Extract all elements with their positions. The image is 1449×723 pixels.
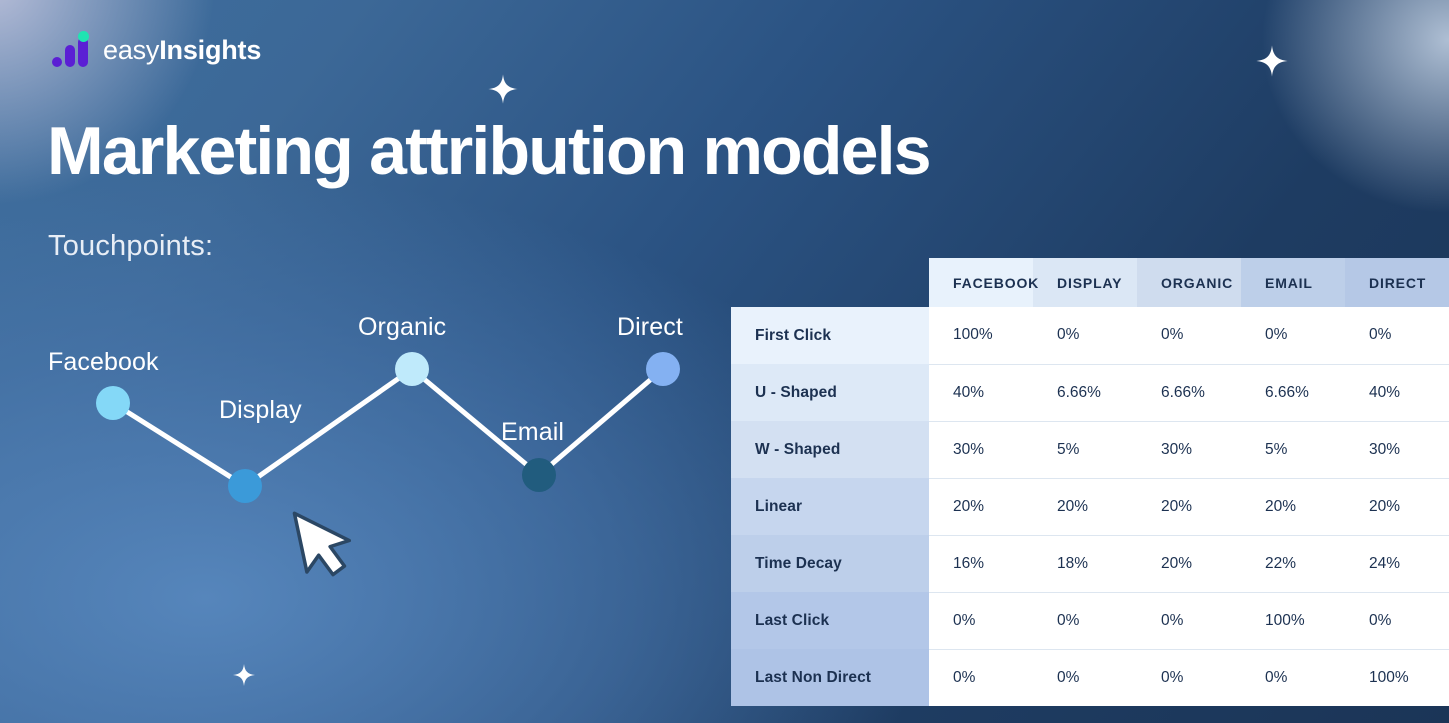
journey-label-organic: Organic <box>358 313 446 342</box>
journey-node-display[interactable] <box>228 469 262 503</box>
cell-value: 24% <box>1345 535 1449 592</box>
cell-value: 0% <box>1345 307 1449 364</box>
sparkle-icon <box>1255 44 1289 78</box>
cell-value: 20% <box>1033 478 1137 535</box>
journey-label-facebook: Facebook <box>48 348 159 377</box>
row-label-w-shaped[interactable]: W - Shaped <box>731 421 929 478</box>
cell-value: 0% <box>1345 592 1449 649</box>
journey-node-direct[interactable] <box>646 352 680 386</box>
table-row: Last Click0%0%0%100%0% <box>731 592 1449 649</box>
poster-canvas: easyInsights Marketing attribution model… <box>0 0 1449 723</box>
cell-value: 0% <box>929 649 1033 706</box>
cell-value: 0% <box>1241 307 1345 364</box>
cell-value: 6.66% <box>1137 364 1241 421</box>
table-row: Time Decay16%18%20%22%24% <box>731 535 1449 592</box>
table-row: Linear20%20%20%20%20% <box>731 478 1449 535</box>
row-label-last-click[interactable]: Last Click <box>731 592 929 649</box>
cell-value: 30% <box>929 421 1033 478</box>
journey-node-email[interactable] <box>522 458 556 492</box>
cell-value: 0% <box>1137 307 1241 364</box>
logo-word-insights: Insights <box>159 35 261 65</box>
cell-value: 20% <box>1241 478 1345 535</box>
table-row: Last Non Direct0%0%0%0%100% <box>731 649 1449 706</box>
cell-value: 20% <box>929 478 1033 535</box>
cell-value: 5% <box>1241 421 1345 478</box>
cell-value: 0% <box>1137 592 1241 649</box>
journey-label-direct: Direct <box>617 313 683 342</box>
easyinsights-logo[interactable]: easyInsights <box>52 30 261 70</box>
cell-value: 40% <box>1345 364 1449 421</box>
journey-nodes <box>96 352 680 503</box>
logo-wordmark: easyInsights <box>103 35 261 66</box>
row-label-time-decay[interactable]: Time Decay <box>731 535 929 592</box>
cell-value: 30% <box>1345 421 1449 478</box>
column-header-facebook[interactable]: FACEBOOK <box>929 258 1033 307</box>
cell-value: 16% <box>929 535 1033 592</box>
cell-value: 6.66% <box>1033 364 1137 421</box>
bar-chart-logo-icon <box>52 33 90 67</box>
sparkle-icon <box>232 663 256 687</box>
cell-value: 0% <box>1033 649 1137 706</box>
row-label-last-non-direct[interactable]: Last Non Direct <box>731 649 929 706</box>
cell-value: 100% <box>1241 592 1345 649</box>
column-header-email[interactable]: EMAIL <box>1241 258 1345 307</box>
cell-value: 20% <box>1137 535 1241 592</box>
cell-value: 0% <box>1241 649 1345 706</box>
journey-node-facebook[interactable] <box>96 386 130 420</box>
cell-value: 0% <box>929 592 1033 649</box>
journey-node-organic[interactable] <box>395 352 429 386</box>
cell-value: 0% <box>1033 592 1137 649</box>
row-label-first-click[interactable]: First Click <box>731 307 929 364</box>
mouse-pointer-icon <box>287 500 359 584</box>
table-row: First Click100%0%0%0%0% <box>731 307 1449 364</box>
table-body: First Click100%0%0%0%0%U - Shaped40%6.66… <box>731 307 1449 706</box>
row-label-linear[interactable]: Linear <box>731 478 929 535</box>
table-corner-cell <box>731 258 929 307</box>
attribution-models-table: FACEBOOK DISPLAY ORGANIC EMAIL DIRECT Fi… <box>731 258 1449 706</box>
journey-label-email: Email <box>501 418 564 447</box>
cell-value: 6.66% <box>1241 364 1345 421</box>
cell-value: 100% <box>1345 649 1449 706</box>
table-header-row: FACEBOOK DISPLAY ORGANIC EMAIL DIRECT <box>731 258 1449 307</box>
cell-value: 22% <box>1241 535 1345 592</box>
row-label-u-shaped[interactable]: U - Shaped <box>731 364 929 421</box>
cell-value: 40% <box>929 364 1033 421</box>
cell-value: 100% <box>929 307 1033 364</box>
table-row: U - Shaped40%6.66%6.66%6.66%40% <box>731 364 1449 421</box>
column-header-display[interactable]: DISPLAY <box>1033 258 1137 307</box>
column-header-organic[interactable]: ORGANIC <box>1137 258 1241 307</box>
cell-value: 20% <box>1137 478 1241 535</box>
cell-value: 20% <box>1345 478 1449 535</box>
page-title: Marketing attribution models <box>47 112 930 190</box>
journey-label-display: Display <box>219 396 302 425</box>
cell-value: 0% <box>1137 649 1241 706</box>
column-header-direct[interactable]: DIRECT <box>1345 258 1449 307</box>
cell-value: 30% <box>1137 421 1241 478</box>
cell-value: 18% <box>1033 535 1137 592</box>
cell-value: 5% <box>1033 421 1137 478</box>
logo-word-easy: easy <box>103 35 159 65</box>
journey-path <box>113 369 663 486</box>
touchpoints-label: Touchpoints: <box>48 230 213 263</box>
table-row: W - Shaped30%5%30%5%30% <box>731 421 1449 478</box>
sparkle-icon <box>487 73 519 105</box>
cell-value: 0% <box>1033 307 1137 364</box>
